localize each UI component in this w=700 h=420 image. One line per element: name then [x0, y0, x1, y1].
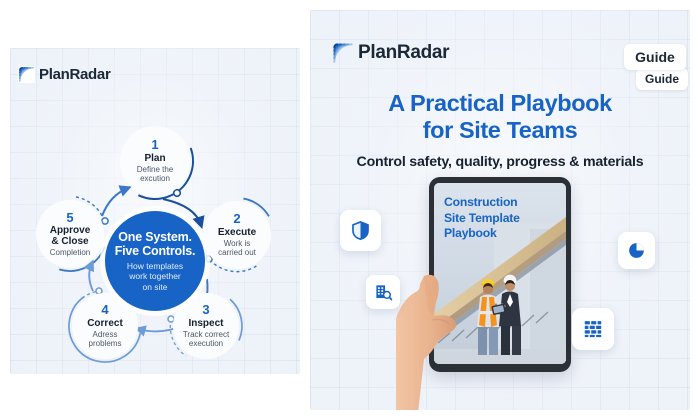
planradar-logo-right[interactable]: PlanRadar — [332, 42, 449, 64]
cover-line-3: Playbook — [444, 226, 558, 242]
step-desc-line2: excution — [140, 174, 170, 183]
pie-chart-icon — [627, 241, 646, 260]
step-number: 1 — [151, 138, 158, 152]
process-diagram-card: 1 Plan Define the excution 2 Execute Wor… — [10, 48, 300, 374]
hub-title-line1: One System. — [118, 230, 192, 244]
step-number: 5 — [66, 211, 73, 225]
hand-holding-tablet — [396, 268, 474, 410]
step-desc-line2: execution — [189, 339, 223, 348]
brick-wall-icon — [582, 318, 604, 340]
hub-sub-line3: on site — [142, 282, 167, 292]
diagram-hub: One System. Five Controls. How templates… — [105, 211, 205, 311]
step-desc-line2: carried out — [218, 248, 256, 257]
process-step-3[interactable]: 3 Inspect Track correct execution — [173, 293, 239, 359]
step-number: 2 — [233, 212, 240, 226]
step-number: 3 — [202, 303, 209, 317]
step-desc-line1: Track correct — [183, 330, 229, 339]
process-step-5[interactable]: 5 Approve & Close Completion — [36, 200, 104, 268]
chip-brick-wall[interactable] — [572, 308, 614, 350]
radar-waves-icon — [332, 42, 354, 64]
cover-line-1: Construction — [444, 195, 558, 211]
process-step-1[interactable]: 1 Plan Define the excution — [120, 126, 190, 196]
headline-line-1: A Practical Playbook — [310, 90, 690, 117]
step-number: 4 — [101, 303, 108, 317]
shield-icon — [350, 220, 371, 241]
chip-pie-chart[interactable] — [618, 232, 655, 269]
step-title: Approve — [50, 225, 91, 236]
playbook-promo-card: A Practical Playbook for Site Teams Cont… — [310, 10, 690, 410]
hub-sub-line1: How templates — [127, 261, 183, 271]
step-title: Correct — [87, 318, 123, 329]
step-title: Inspect — [188, 318, 223, 329]
promo-headline: A Practical Playbook for Site Teams — [310, 90, 690, 145]
step-title-line2: & Close — [51, 236, 88, 247]
step-desc-line1: Completion — [50, 248, 90, 257]
step-desc-line1: Adress — [93, 330, 118, 339]
guide-badge-right[interactable]: Guide — [624, 44, 686, 70]
building-search-icon — [374, 283, 393, 302]
planradar-logo-left[interactable]: PlanRadar — [18, 66, 111, 83]
step-desc-line1: Define the — [137, 165, 173, 174]
step-title: Execute — [218, 227, 256, 238]
step-title: Plan — [144, 153, 165, 164]
hub-sub-line2: work together — [129, 271, 181, 281]
guide-badge-left[interactable]: Guide — [636, 68, 688, 90]
planradar-wordmark: PlanRadar — [358, 42, 449, 64]
hub-title-line2: Five Controls. — [115, 244, 196, 258]
promo-subheadline: Control safety, quality, progress & mate… — [310, 154, 690, 170]
step-desc-line2: problems — [89, 339, 122, 348]
chip-building-search[interactable] — [366, 275, 400, 309]
chip-shield[interactable] — [340, 210, 381, 251]
screenshot-root: 1 Plan Define the excution 2 Execute Wor… — [0, 0, 700, 420]
step-desc-line1: Work is — [224, 239, 251, 248]
headline-line-2: for Site Teams — [310, 117, 690, 144]
process-step-2[interactable]: 2 Execute Work is carried out — [203, 201, 271, 269]
radar-waves-icon — [18, 66, 35, 83]
tablet-cover-title: Construction Site Template Playbook — [444, 195, 558, 242]
cover-line-2: Site Template — [444, 211, 558, 227]
planradar-wordmark: PlanRadar — [39, 66, 111, 83]
